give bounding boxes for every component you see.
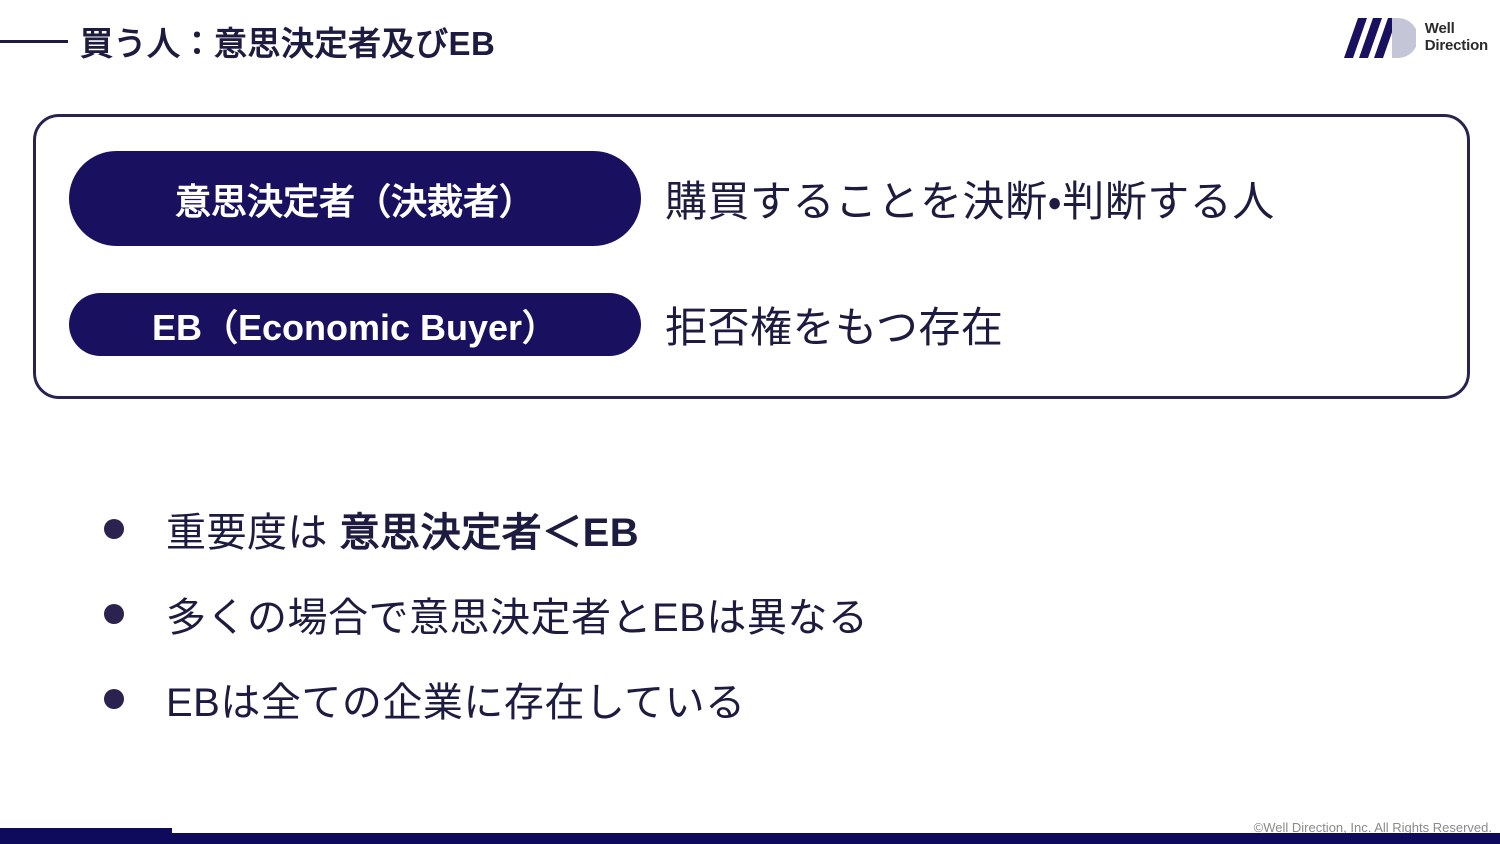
brand-logo-line1: Well [1425, 21, 1488, 38]
slide-canvas: 買う人：意思決定者及びEB Well Direction 意思決定者（決裁者） … [0, 0, 1500, 844]
definition-description-economic-buyer: 拒否権をもつ存在 [665, 294, 1003, 355]
list-item: 重要度は 意思決定者＜EB [104, 486, 1404, 571]
bullet-text-lead: 重要度は [166, 511, 340, 555]
footer-bar-right [166, 833, 1500, 844]
definition-box: 意思決定者（決裁者） 購買することを決断・判断する人 EB（Economic B… [33, 114, 1470, 399]
bullet-text-lead: EBは全ての企業に存在している [166, 681, 746, 725]
footer-bar-left [0, 828, 172, 844]
bullet-dot-icon [104, 604, 124, 624]
pill-economic-buyer: EB（Economic Buyer） [69, 293, 641, 356]
bullet-dot-icon [104, 689, 124, 709]
list-item: 多くの場合で意思決定者とEBは異なる [104, 571, 1404, 656]
brand-logo-line2: Direction [1425, 38, 1488, 55]
bullet-dot-icon [104, 519, 124, 539]
well-direction-logo-mark [1342, 16, 1416, 60]
list-item: EBは全ての企業に存在している [104, 656, 1404, 741]
definition-row-decision-maker: 意思決定者（決裁者） 購買することを決断・判断する人 [69, 151, 1275, 246]
bullet-text: 重要度は 意思決定者＜EB [166, 500, 639, 558]
brand-logo-text: Well Direction [1425, 21, 1488, 55]
bullet-text: 多くの場合で意思決定者とEBは異なる [166, 585, 868, 643]
bullet-list: 重要度は 意思決定者＜EB 多くの場合で意思決定者とEBは異なる EBは全ての企… [104, 486, 1404, 741]
bullet-text-emphasis: 意思決定者＜EB [340, 511, 640, 555]
bullet-text-lead: 多くの場合で意思決定者とEBは異なる [166, 596, 868, 640]
definition-row-economic-buyer: EB（Economic Buyer） 拒否権をもつ存在 [69, 293, 1003, 356]
pill-decision-maker: 意思決定者（決裁者） [69, 151, 641, 246]
title-rule-decoration [0, 40, 68, 43]
page-title: 買う人：意思決定者及びEB [80, 17, 495, 65]
definition-description-decision-maker: 購買することを決断・判断する人 [665, 168, 1275, 229]
brand-logo: Well Direction [1342, 16, 1488, 60]
bullet-text: EBは全ての企業に存在している [166, 670, 746, 728]
